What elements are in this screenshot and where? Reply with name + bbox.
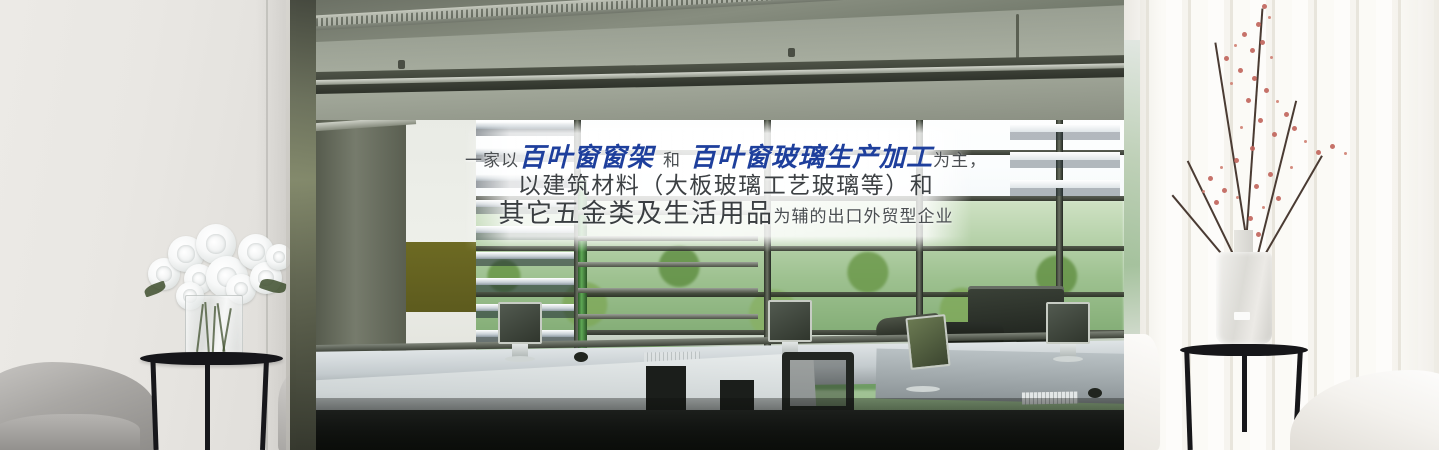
line3-emphasis: 其它五金类及生活用品 [498, 200, 773, 228]
line3-suffix: 为辅的出口外贸型企业 [774, 208, 954, 226]
line1-suffix: 为主， [933, 152, 987, 170]
side-table-leg [1242, 352, 1247, 432]
monitor-angled [905, 314, 950, 370]
line1-highlight-1: 百叶窗窗架 [519, 144, 654, 172]
white-chair-secondary [1124, 334, 1160, 450]
ceramic-bottle-vase [1216, 252, 1272, 344]
mouse [1088, 388, 1102, 398]
company-description-overlay: 一家以 百叶窗窗架 和 百叶窗玻璃生产加工 为主， 以建筑材料（大板玻璃工艺玻璃… [436, 120, 1016, 252]
right-interior-photo [1124, 0, 1439, 450]
sprinkler-head [398, 60, 405, 69]
monitor-base [1053, 356, 1083, 362]
cherry-blossom-branches [1164, 0, 1404, 250]
line1-conjunction: 和 [663, 152, 681, 170]
overlay-line-2: 以建筑材料（大板玻璃工艺玻璃等）和 [518, 174, 935, 199]
sprinkler-head [788, 48, 795, 57]
center-office-photo: 一家以 百叶窗窗架 和 百叶窗玻璃生产加工 为主， 以建筑材料（大板玻璃工艺玻璃… [316, 0, 1124, 450]
monitor [1046, 302, 1090, 344]
foreground-shadow [316, 398, 1124, 450]
window-gap-greenery [1124, 40, 1140, 340]
overlay-line-3: 其它五金类及生活用品 为辅的出口外贸型企业 [498, 200, 953, 228]
gray-chair-seat [0, 414, 140, 450]
flower-stems [196, 300, 232, 352]
line1-prefix: 一家以 [465, 152, 519, 170]
doorway-glimpse [290, 0, 316, 450]
monitor [768, 300, 812, 342]
company-intro-hero-banner: 一家以 百叶窗窗架 和 百叶窗玻璃生产加工 为主， 以建筑材料（大板玻璃工艺玻璃… [0, 0, 1439, 450]
monitor-base [505, 356, 535, 362]
overlay-line-1: 一家以 百叶窗窗架 和 百叶窗玻璃生产加工 为主， [465, 144, 987, 172]
monitor [498, 302, 542, 344]
mouse [574, 352, 588, 362]
left-interior-photo [0, 0, 316, 450]
line1-highlight-2: 百叶窗玻璃生产加工 [690, 144, 933, 172]
side-table-leg [205, 360, 210, 450]
side-table-top [140, 352, 283, 365]
vase-highlight [1234, 312, 1250, 320]
monitor-base [906, 386, 940, 392]
